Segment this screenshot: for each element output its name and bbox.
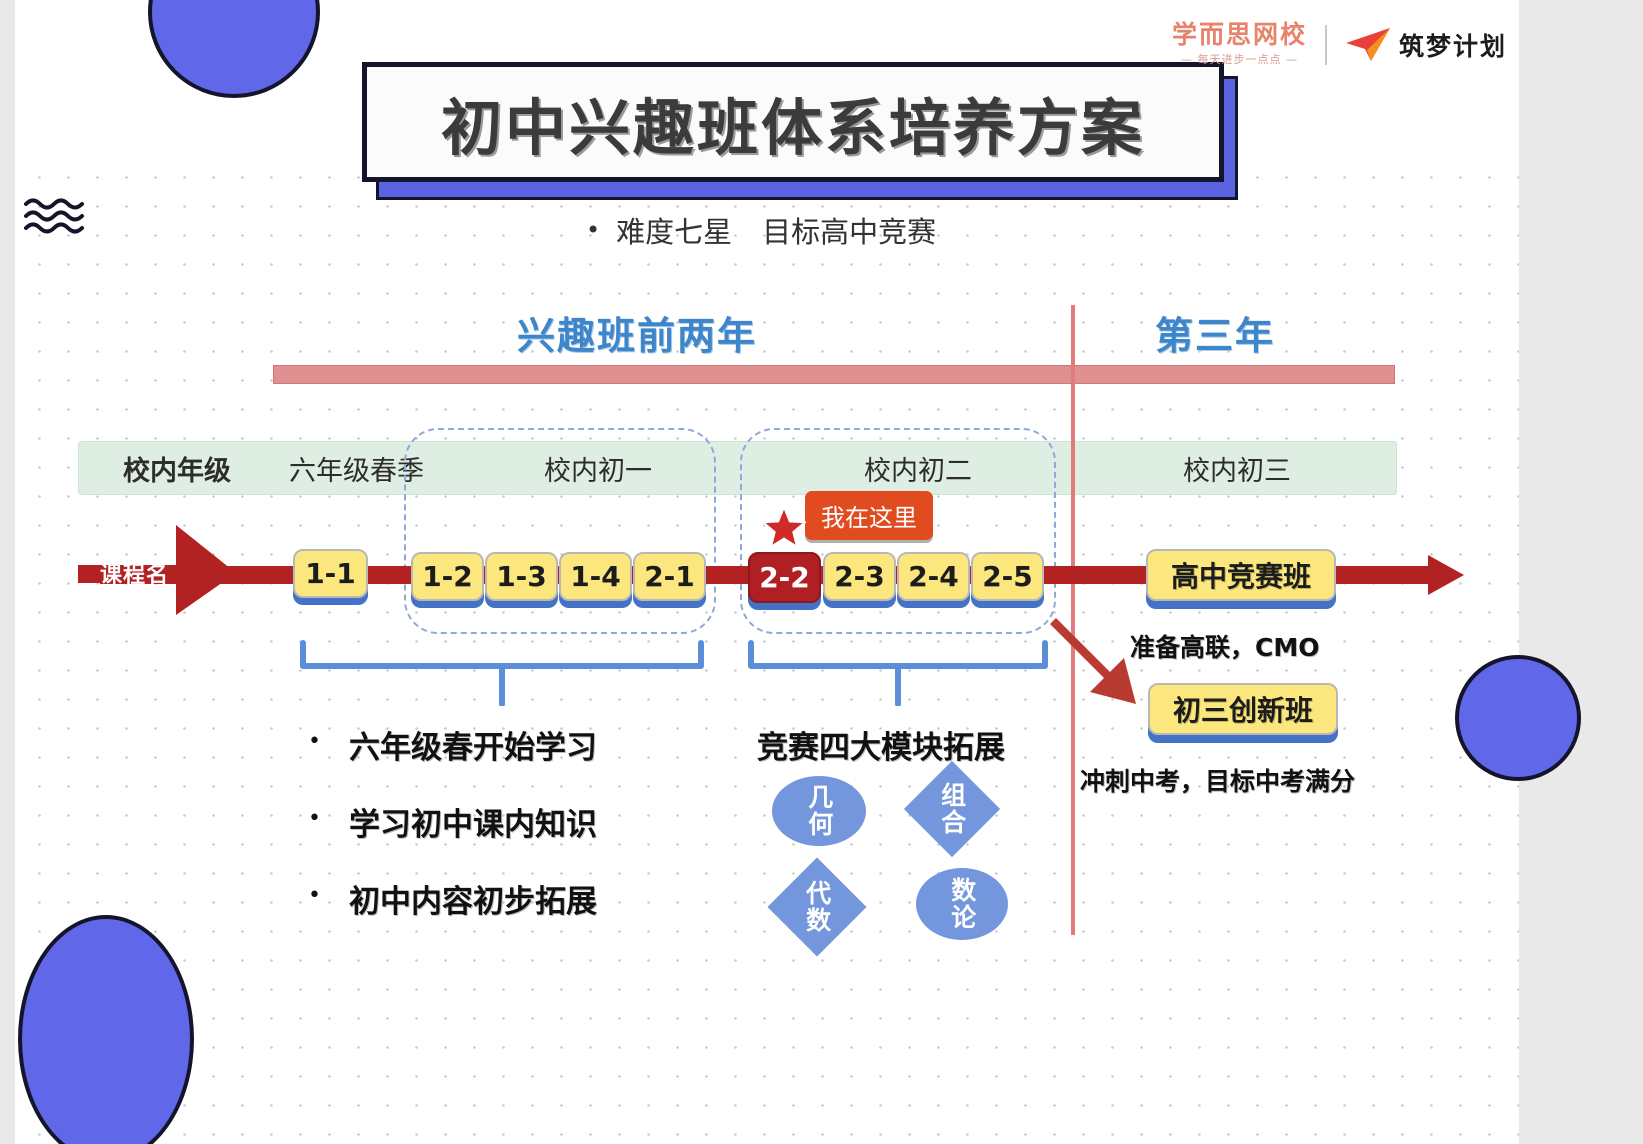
course-chip-1-3[interactable]: 1-3 <box>485 552 558 601</box>
grade-item-3: 校内初三 <box>1078 449 1396 488</box>
phase-label-second: 第三年 <box>1155 305 1275 360</box>
modules-title: 竞赛四大模块拓展 <box>757 722 1005 767</box>
module-shape-number-theory: 数论 <box>916 868 1008 940</box>
bracket-year1 <box>300 640 704 706</box>
module-shape-geometry: 几何 <box>772 776 866 846</box>
title-box: 初中兴趣班体系培养方案 <box>362 62 1224 182</box>
phase-label-first: 兴趣班前两年 <box>517 305 757 360</box>
phase-top-bar <box>273 365 1395 384</box>
track-arrow-right-icon <box>1428 553 1466 597</box>
subtitle-bullet-icon: • <box>586 218 600 242</box>
right-box-innovation[interactable]: 初三创新班 <box>1148 683 1338 735</box>
subtitle: • 难度七星 目标高中竞赛 <box>586 209 936 251</box>
course-chip-1-1[interactable]: 1-1 <box>293 549 368 598</box>
decorative-circle-right <box>1455 655 1581 781</box>
course-chip-1-2[interactable]: 1-2 <box>411 552 484 601</box>
bullet-text-0: 六年级春开始学习 <box>349 722 597 767</box>
course-chip-1-4[interactable]: 1-4 <box>559 552 632 601</box>
course-name-label: 课程名 <box>100 557 169 589</box>
subtitle-difficulty: 难度七星 <box>616 209 732 251</box>
bullet-dot-icon: • <box>308 722 321 762</box>
right-box-senior-competition[interactable]: 高中竞赛班 <box>1146 549 1336 601</box>
module-label-0: 几何 <box>806 784 832 838</box>
course-chip-2-1[interactable]: 2-1 <box>633 552 706 601</box>
bracket-year2 <box>748 640 1048 706</box>
slide-root: 学而思网校 — 每天进步一点点 — 筑梦计划 初中兴趣班体系培养方案 • 难度七… <box>0 0 1643 1144</box>
list-item: • 六年级春开始学习 <box>308 722 597 767</box>
paper-plane-icon <box>1345 27 1391 63</box>
school-name: 学而思网校 <box>1172 22 1307 48</box>
grade-band: 校内年级 六年级春季 校内初一 校内初二 校内初三 <box>78 441 1397 495</box>
course-chip-2-2-current[interactable]: 2-2 <box>748 552 821 603</box>
course-chip-2-4[interactable]: 2-4 <box>897 552 970 601</box>
school-slogan: — 每天进步一点点 — <box>1181 51 1298 67</box>
list-item: • 初中内容初步拓展 <box>308 876 597 921</box>
page-title: 初中兴趣班体系培养方案 <box>441 78 1145 167</box>
wave-lines-decoration <box>24 196 104 236</box>
brand-logos: 学而思网校 — 每天进步一点点 — 筑梦计划 <box>1172 22 1507 67</box>
school-logo: 学而思网校 — 每天进步一点点 — <box>1172 22 1307 67</box>
bullet-dot-icon: • <box>308 799 321 839</box>
brand-divider <box>1325 25 1327 65</box>
title-block: 初中兴趣班体系培养方案 <box>362 62 1224 182</box>
here-badge: 我在这里 <box>805 491 933 540</box>
bullet-dot-icon: • <box>308 876 321 916</box>
grade-band-label: 校内年级 <box>79 449 275 488</box>
plan-name: 筑梦计划 <box>1399 27 1507 63</box>
left-gutter <box>0 0 15 1144</box>
right-note-top: 准备高联，CMO <box>1130 628 1319 664</box>
module-label-1: 组合 <box>939 782 965 836</box>
bullet-text-2: 初中内容初步拓展 <box>349 876 597 921</box>
right-gutter <box>1519 0 1643 1144</box>
list-item: • 学习初中课内知识 <box>308 799 597 844</box>
plan-logo: 筑梦计划 <box>1345 27 1507 63</box>
left-notes-list: • 六年级春开始学习 • 学习初中课内知识 • 初中内容初步拓展 <box>308 722 597 953</box>
dashed-group-year1 <box>404 428 716 634</box>
right-note-bottom: 冲刺中考，目标中考满分 <box>1080 762 1355 798</box>
bullet-text-1: 学习初中课内知识 <box>349 799 597 844</box>
star-icon <box>762 506 806 548</box>
module-label-2: 代数 <box>804 880 830 934</box>
subtitle-goal: 目标高中竞赛 <box>762 209 936 251</box>
course-chip-2-5[interactable]: 2-5 <box>971 552 1044 601</box>
course-chip-2-3[interactable]: 2-3 <box>823 552 896 601</box>
module-label-3: 数论 <box>949 877 975 931</box>
